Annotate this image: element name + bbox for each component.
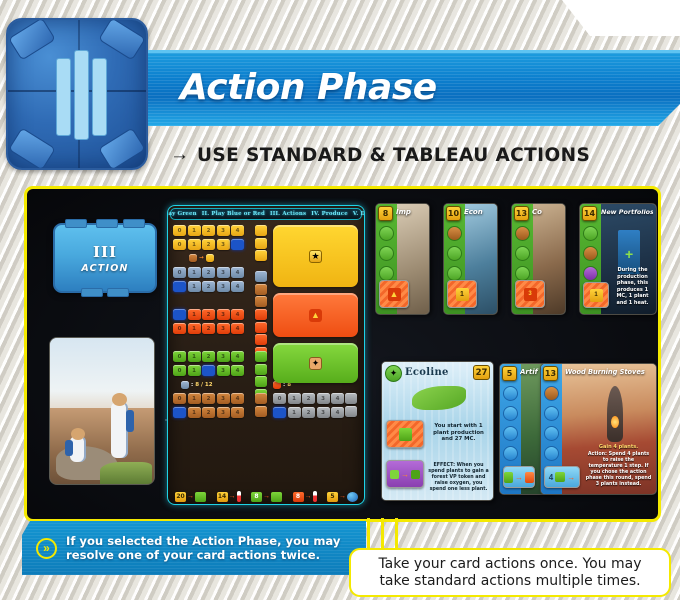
building-tag-icon: [544, 446, 559, 461]
resource-chip[interactable]: 0: [173, 351, 186, 362]
green-card-2[interactable]: 10 Econ 1: [443, 203, 498, 315]
resource-chip[interactable]: 1: [188, 365, 201, 376]
megacredit-icon: [206, 254, 214, 262]
production-chip[interactable]: [255, 364, 267, 375]
heat-track[interactable]: 0 1 2 3 4: [273, 393, 344, 404]
tile-nub-b: [96, 219, 118, 228]
astronaut-backpack: [126, 410, 134, 432]
player-cube-marker[interactable]: [173, 281, 186, 292]
astronaut-standing: [111, 402, 128, 458]
plant-icon: [399, 428, 412, 441]
resource-chip[interactable]: 0: [173, 365, 186, 376]
resource-chip[interactable]: 2: [202, 351, 215, 362]
card-production-box: ▲: [379, 280, 409, 308]
player-cube-marker[interactable]: [202, 365, 215, 376]
production-chip[interactable]: [255, 309, 267, 320]
resource-chip[interactable]: 4: [231, 309, 244, 320]
corporation-cost-badge: 27: [473, 365, 490, 380]
card-title: Co: [532, 207, 562, 218]
city-action[interactable]: 14 →: [217, 491, 241, 502]
production-chip[interactable]: [345, 393, 357, 404]
action-cost: 8: [293, 492, 304, 502]
energy-icon: [189, 254, 197, 262]
double-chevron-icon: »: [36, 538, 57, 559]
page-subtitle: USE STANDARD & TABLEAU ACTIONS: [197, 145, 590, 166]
callout-connector-1: [367, 518, 370, 552]
plant-icon: [195, 492, 206, 502]
corporation-effect-row-2: → EFFECT: When you spend plants to gain …: [386, 460, 489, 493]
energy-tag-icon: [447, 226, 462, 241]
resource-chip[interactable]: 0: [173, 239, 186, 250]
plant-tag-icon: [379, 226, 394, 241]
resource-chip[interactable]: 1: [288, 407, 301, 418]
production-chip[interactable]: [255, 296, 267, 307]
production-chip[interactable]: [255, 406, 267, 417]
caption-callout-text: Take your card actions once. You may tak…: [363, 556, 657, 590]
resource-chip[interactable]: 1: [288, 393, 301, 404]
heat-track-2[interactable]: 1 2 3 4: [273, 407, 344, 418]
titanium-track-2[interactable]: 0 1 2 3 4: [173, 323, 244, 334]
card-artwork-plus-icon: +: [625, 246, 633, 262]
card-artwork-flame: [611, 416, 619, 428]
energy-tag-icon: [583, 246, 598, 261]
callout-connector-2: [381, 518, 384, 552]
resource-chip[interactable]: 2: [202, 267, 215, 278]
forest-icon: [411, 470, 420, 479]
caption-blue-banner: » If you selected the Action Phase, you …: [22, 521, 366, 575]
logo-corner-top-right: [98, 18, 146, 61]
energy-track-2[interactable]: 1 2 3 4: [173, 407, 244, 418]
megacredit-track[interactable]: 0 1 2 3 4: [173, 225, 244, 236]
banner-highlight: [148, 50, 680, 53]
phase-strip-item-5: V. Draw: [353, 211, 365, 217]
green-card-fan[interactable]: 8 Imp ▲ 10 Econ 1 13 Co: [375, 199, 657, 327]
plant-tag-icon: ✦: [385, 365, 402, 382]
plant-icon: [271, 492, 282, 502]
resource-chip[interactable]: 4: [231, 225, 244, 236]
resource-chip[interactable]: 4: [231, 267, 244, 278]
logo-bar-2: [74, 50, 89, 140]
building-tag-icon: [503, 386, 518, 401]
resource-chip[interactable]: 0: [173, 267, 186, 278]
heat-box[interactable]: ▲: [273, 293, 358, 337]
plant-tag-icon: [447, 266, 462, 281]
building-tag-icon: [544, 426, 559, 441]
megacredit-track-2[interactable]: 0 1 2 3: [173, 239, 244, 250]
resource-chip[interactable]: 3: [217, 365, 230, 376]
astronaut-backpack: [65, 440, 73, 456]
standard-actions-strip[interactable]: 20 → 14 → 8 → 8 → 5 →: [173, 490, 360, 503]
resource-chip[interactable]: 1: [188, 239, 201, 250]
megacredit-icon: ★: [309, 250, 322, 263]
board-illustration-panel: III ACTION I. Play Green II. Play Blue o…: [24, 186, 661, 522]
tile-nub-e: [107, 288, 129, 297]
resource-chip[interactable]: 1: [188, 407, 201, 418]
production-chip[interactable]: [255, 351, 267, 362]
player-cube-marker[interactable]: [231, 239, 244, 250]
plant-convert-action[interactable]: 8 →: [251, 492, 282, 502]
resource-chip[interactable]: 4: [231, 281, 244, 292]
ocean-icon: [347, 492, 358, 502]
arrow-right-icon: →: [170, 144, 189, 166]
resource-chip[interactable]: 3: [317, 407, 330, 418]
plant-tag-icon: [379, 246, 394, 261]
phase-tile-icon: [6, 18, 148, 170]
green-card-4[interactable]: + 14 New Portfolios 1 During the product…: [579, 203, 657, 315]
resource-chip[interactable]: 0: [173, 323, 186, 334]
greenery-action[interactable]: 20 →: [175, 492, 206, 502]
card-action-box: 4 →: [544, 466, 580, 488]
arrow-right-icon: →: [401, 470, 409, 479]
card-artwork-monolith: [607, 386, 623, 442]
action-tile-label: ACTION: [81, 263, 128, 274]
production-column-yellow[interactable]: [255, 225, 267, 261]
plant-tag-icon: [447, 246, 462, 261]
resource-chip[interactable]: 0: [173, 393, 186, 404]
building-tag-icon: [544, 406, 559, 421]
effect-box-icon: →: [386, 460, 424, 488]
resource-chip[interactable]: 1: [188, 393, 201, 404]
plant-track[interactable]: 0 1 2 3 4: [173, 351, 244, 362]
card-cost-badge: 5: [502, 366, 517, 381]
arrow-right-icon: →: [305, 493, 312, 500]
green-card-3[interactable]: 13 Co 3: [511, 203, 566, 315]
action-cost: 14: [217, 492, 228, 502]
arrow-right-icon: →: [515, 473, 523, 482]
resource-chip[interactable]: 2: [302, 393, 315, 404]
resource-chip[interactable]: 3: [217, 239, 230, 250]
production-chip[interactable]: [255, 250, 267, 261]
page-header: Action Phase → USE STANDARD & TABLEAU AC…: [0, 0, 680, 186]
card-action-box: →: [503, 466, 535, 488]
plant-tag-icon: [583, 226, 598, 241]
corporation-effect-text-2: EFFECT: When you spend plants to gain a …: [428, 460, 489, 493]
card-production-box: 3: [515, 280, 545, 308]
tile-nub-a: [65, 219, 87, 228]
action-tile-numeral: III: [93, 243, 117, 261]
energy-tag-icon: [515, 226, 530, 241]
tile-nub-c: [123, 219, 145, 228]
resource-chip[interactable]: 2: [202, 239, 215, 250]
plant-tag-icon: [379, 266, 394, 281]
resource-chip[interactable]: 3: [217, 323, 230, 334]
player-cube-marker[interactable]: [173, 309, 186, 320]
card-cost-badge: 10: [446, 206, 461, 221]
mars-astronauts-artwork: [49, 337, 155, 485]
astronaut-helmet: [71, 428, 85, 440]
building-tag-icon: [544, 386, 559, 401]
player-board-inner: 0 1 2 3 4 0 1 2 3 → 0 1 2: [173, 223, 360, 490]
action-cost: 5: [327, 492, 338, 502]
resource-chip[interactable]: 1: [188, 351, 201, 362]
phase-strip-item-1: I. Play Green: [167, 211, 197, 217]
astronaut-seated: [70, 436, 86, 462]
temperature-icon: [237, 491, 241, 502]
energy-track[interactable]: 0 1 2 3 4: [173, 393, 244, 404]
plant-icon: [390, 470, 399, 479]
science-tag-icon: [583, 266, 598, 281]
resource-chip[interactable]: 2: [202, 407, 215, 418]
resource-chip[interactable]: 3: [217, 309, 230, 320]
plant-box[interactable]: ✦: [273, 343, 358, 383]
steel-track[interactable]: 0 1 2 3 4: [173, 267, 244, 278]
plant-icon: [504, 472, 513, 483]
production-value: 1: [456, 288, 469, 301]
card-description-head: Gain 4 plants.: [585, 444, 652, 451]
resource-chip[interactable]: 0: [273, 393, 286, 404]
resource-chip[interactable]: 0: [173, 225, 186, 236]
resource-chip[interactable]: 2: [202, 323, 215, 334]
resource-chip[interactable]: 4: [231, 365, 244, 376]
heat-convert-action[interactable]: 8 →: [293, 491, 317, 502]
card-production-box: 1: [583, 282, 609, 308]
resource-chip[interactable]: 3: [217, 393, 230, 404]
phase-strip-item-4: IV. Produce: [311, 211, 348, 217]
player-cube-marker[interactable]: [173, 407, 186, 418]
resource-chip[interactable]: 3: [217, 267, 230, 278]
resource-chip[interactable]: 1: [188, 281, 201, 292]
resource-chip[interactable]: 3: [217, 225, 230, 236]
phase-strip-item-2: II. Play Blue or Red: [202, 211, 265, 217]
plant-icon: [555, 472, 565, 482]
resource-chip[interactable]: 4: [331, 407, 344, 418]
caption-blue-text: If you selected the Action Phase, you ma…: [66, 534, 354, 563]
astronaut-helmet: [112, 393, 127, 406]
production-chip[interactable]: [255, 322, 267, 333]
logo-bar-1: [56, 58, 71, 136]
production-value: 1: [590, 289, 603, 302]
green-card-1[interactable]: 8 Imp ▲: [375, 203, 430, 315]
logo-corner-top-left: [8, 18, 56, 61]
card-cost-badge: 14: [582, 206, 597, 221]
plant-icon: ✦: [309, 357, 322, 370]
card-title: Econ: [464, 207, 494, 218]
titanium-track[interactable]: 1 2 3 4: [173, 309, 244, 320]
arrow-right-icon: →: [263, 493, 270, 500]
production-box-icon: [386, 420, 424, 448]
resource-chip[interactable]: 4: [231, 393, 244, 404]
production-chip[interactable]: [255, 376, 267, 387]
resource-chip[interactable]: 3: [217, 407, 230, 418]
arrow-right-icon: →: [229, 493, 236, 500]
ocean-action[interactable]: 5 →: [327, 492, 358, 502]
resource-chip[interactable]: 1: [188, 323, 201, 334]
corporation-and-blue-cards[interactable]: ✦ Ecoline 27 You start with 1 plant prod…: [375, 355, 657, 507]
production-chip[interactable]: [255, 334, 267, 345]
corporation-name: Ecoline: [405, 366, 471, 379]
plant-tag-icon: [515, 266, 530, 281]
megacredit-value-label: →: [189, 254, 214, 262]
resource-chip[interactable]: 4: [231, 323, 244, 334]
resource-chip[interactable]: 3: [217, 351, 230, 362]
player-board[interactable]: I. Play Green II. Play Blue or Red III. …: [167, 205, 365, 505]
card-title: Wood Burning Stoves: [565, 367, 653, 378]
production-column-brown[interactable]: [255, 393, 267, 417]
resource-chip[interactable]: 1: [188, 309, 201, 320]
heat-icon: [525, 472, 534, 483]
phase-strip-item-3: III. Actions: [270, 211, 306, 217]
callout-connector-3: [395, 518, 398, 552]
artwork-vegetation: [100, 462, 152, 484]
card-description: Action: Spend 4 plants to raise the temp…: [585, 452, 652, 488]
card-production-box: 1: [447, 280, 477, 308]
steel-value-text: 8 / 12: [195, 382, 212, 388]
plant-track-2[interactable]: 0 1 3 4: [173, 365, 244, 376]
card-title: Imp: [396, 207, 426, 218]
card-cost-badge: 13: [543, 366, 558, 381]
production-column-grey[interactable]: [345, 393, 357, 417]
production-chip[interactable]: [255, 393, 267, 404]
resource-chip[interactable]: 2: [202, 281, 215, 292]
resource-chip[interactable]: 4: [231, 407, 244, 418]
card-description: During the production phase, this produc…: [612, 267, 653, 306]
temperature-icon: [313, 491, 317, 502]
corporation-effect-text-1: You start with 1 plant production and 27…: [428, 420, 489, 443]
action-cost: 4: [549, 473, 553, 482]
production-chip[interactable]: [255, 271, 267, 282]
corporation-card-ecoline[interactable]: ✦ Ecoline 27 You start with 1 plant prod…: [381, 361, 494, 501]
resource-chip[interactable]: 1: [188, 225, 201, 236]
resource-chip[interactable]: 2: [302, 407, 315, 418]
steel-icon: [181, 381, 189, 389]
caption-callout-box: Take your card actions once. You may tak…: [349, 548, 671, 597]
building-tag-icon: [503, 446, 518, 461]
resource-chip[interactable]: 2: [202, 309, 215, 320]
steel-track-2[interactable]: 1 2 3 4: [173, 281, 244, 292]
heat-icon: ▲: [388, 288, 401, 301]
tile-nub-d: [81, 288, 103, 297]
resource-chip[interactable]: 3: [217, 281, 230, 292]
page-title: Action Phase: [180, 62, 620, 114]
building-tag-icon: [503, 426, 518, 441]
blue-card-2[interactable]: 13 Wood Burning Stoves 4 → Gain 4 plants…: [540, 363, 657, 495]
plant-tag-icon: [515, 246, 530, 261]
resource-chip[interactable]: 4: [231, 351, 244, 362]
phase-order-strip: I. Play Green II. Play Blue or Red III. …: [170, 208, 362, 220]
action-phase-tile[interactable]: III ACTION: [53, 223, 157, 293]
resource-chip[interactable]: 2: [202, 225, 215, 236]
artwork-sky: [50, 338, 154, 414]
card-title: New Portfolios: [601, 207, 653, 218]
arrow-right-icon: →: [567, 473, 575, 482]
logo-bar-3: [92, 58, 107, 136]
resource-chip[interactable]: 1: [188, 267, 201, 278]
resource-chip[interactable]: 3: [317, 393, 330, 404]
logo-corner-bottom-left: [8, 127, 56, 170]
production-chip[interactable]: [255, 225, 267, 236]
production-chip[interactable]: [345, 406, 357, 417]
production-value: 3: [524, 288, 537, 301]
player-cube-marker[interactable]: [273, 407, 286, 418]
production-chip[interactable]: [255, 238, 267, 249]
resource-chip[interactable]: 2: [202, 393, 215, 404]
megacredit-box[interactable]: ★: [273, 225, 358, 287]
heat-icon: ▲: [309, 309, 322, 322]
arrow-right-icon: →: [187, 493, 194, 500]
corporation-effect-row-1: You start with 1 plant production and 27…: [386, 420, 489, 448]
action-cost: 8: [251, 492, 262, 502]
arrow-right-icon: →: [339, 493, 346, 500]
steel-value-label: : 8 / 12: [181, 381, 213, 389]
resource-chip[interactable]: 4: [331, 393, 344, 404]
card-cost-badge: 13: [514, 206, 529, 221]
action-cost: 20: [175, 492, 186, 502]
building-tag-icon: [503, 406, 518, 421]
subtitle-row: → USE STANDARD & TABLEAU ACTIONS: [170, 142, 650, 168]
card-cost-badge: 8: [378, 206, 393, 221]
production-chip[interactable]: [255, 284, 267, 295]
